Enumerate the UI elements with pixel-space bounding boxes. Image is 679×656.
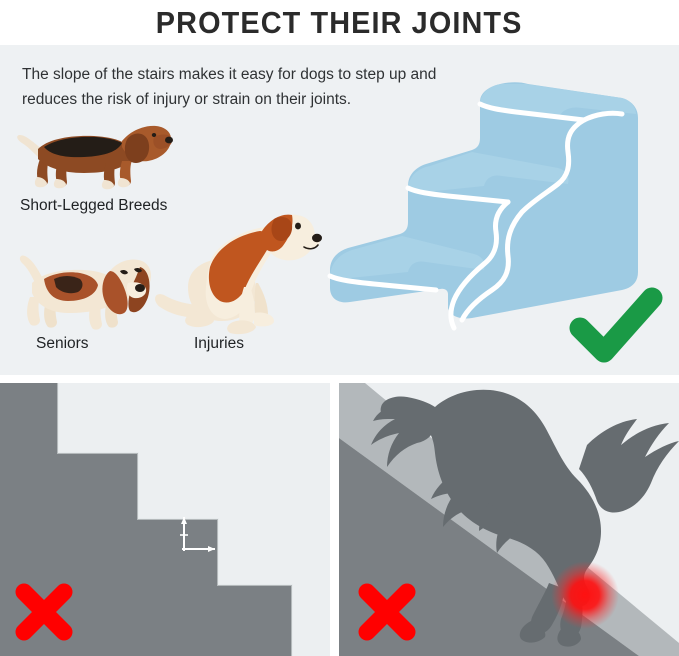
bottom-left-panel: 90°: [0, 383, 330, 656]
infographic-page: PROTECT THEIR JOINTS The slope of the st…: [0, 0, 679, 656]
top-panel: The slope of the stairs makes it easy fo…: [0, 45, 679, 375]
steep-staircase-diagram: [0, 383, 330, 656]
bottom-right-panel: [339, 383, 679, 656]
title-bar: PROTECT THEIR JOINTS: [0, 0, 679, 45]
page-title: PROTECT THEIR JOINTS: [156, 7, 523, 38]
sitting-dog-illustration: [150, 213, 325, 335]
label-short-legged-breeds: Short-Legged Breeds: [20, 197, 167, 215]
dachshund-illustration: [14, 113, 174, 191]
dog-jumping-ramp-diagram: [339, 383, 679, 656]
label-seniors: Seniors: [36, 335, 89, 353]
pet-stairs-illustration: [322, 80, 674, 375]
label-injuries: Injuries: [194, 335, 244, 353]
joint-pain-indicator: [551, 561, 619, 629]
basset-hound-illustration: [10, 245, 155, 335]
check-mark-icon: [580, 298, 652, 352]
